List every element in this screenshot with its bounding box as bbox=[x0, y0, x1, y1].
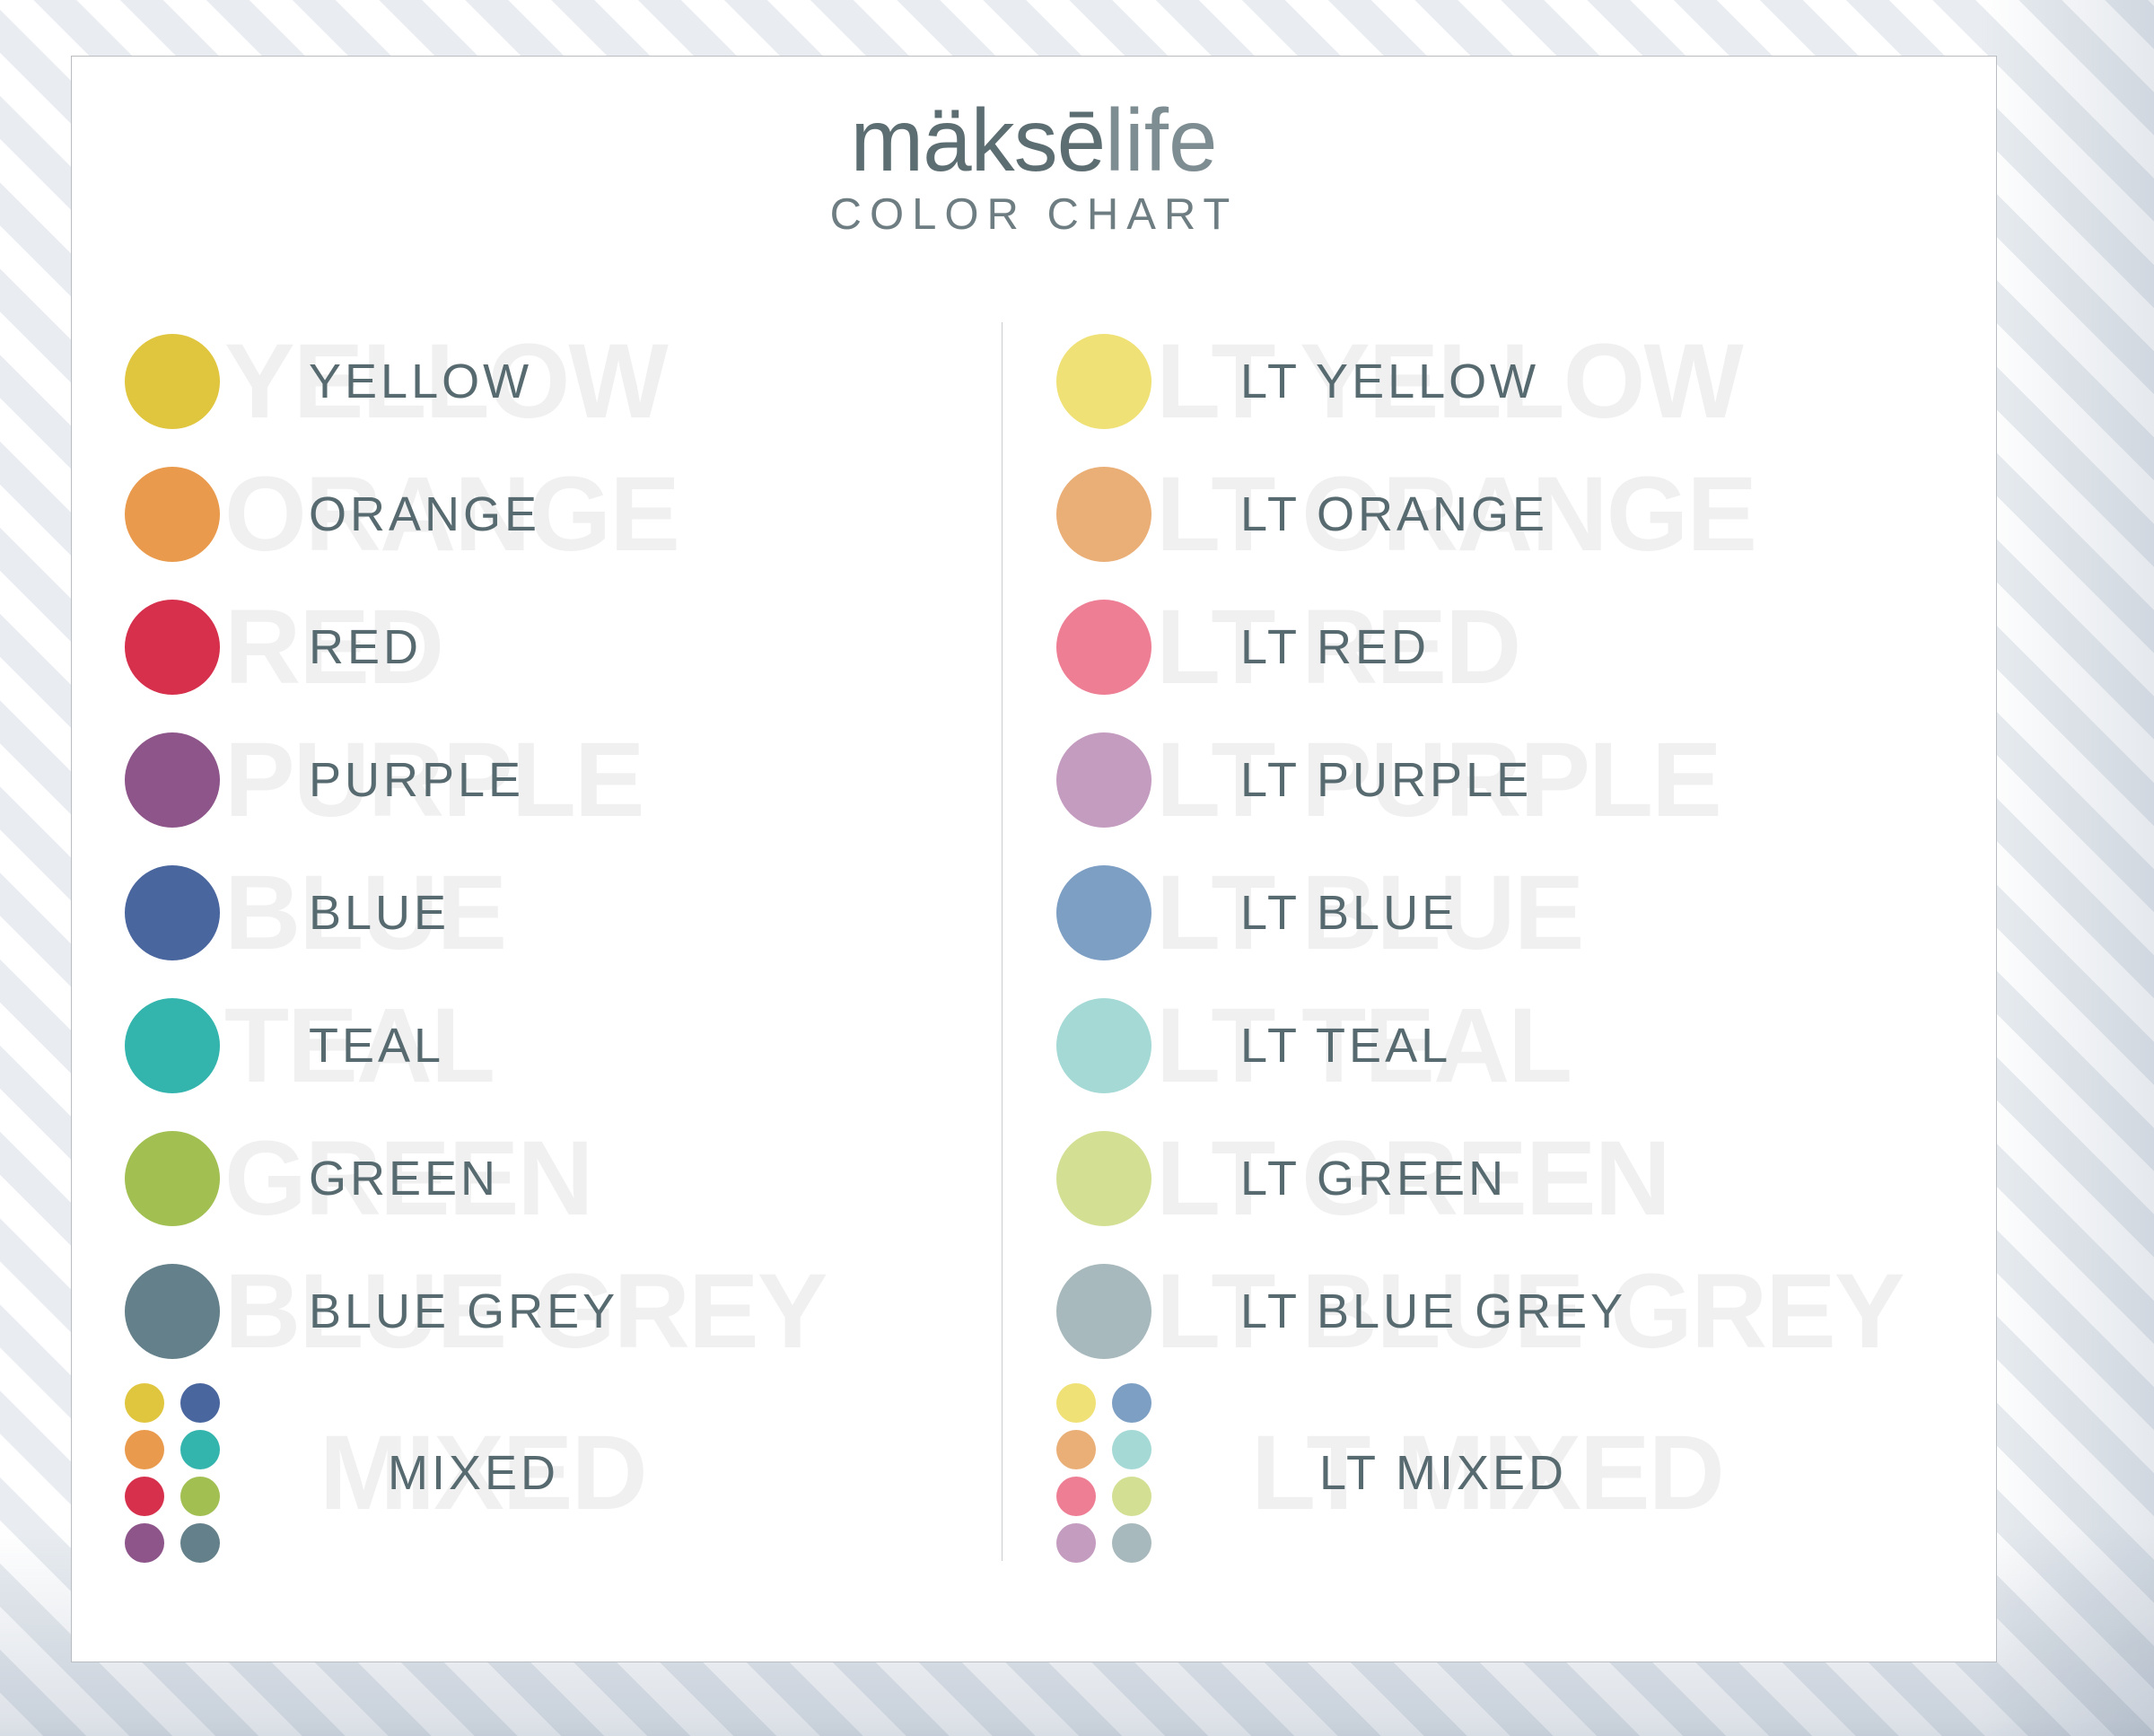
mixed-swatch-dot bbox=[1112, 1430, 1151, 1469]
label-cell: BLUEBLUE bbox=[257, 846, 1012, 979]
swatch-cell bbox=[88, 467, 257, 562]
color-row[interactable]: BLUEBLUE bbox=[88, 846, 1012, 979]
mixed-swatch-grid bbox=[1051, 1381, 1157, 1565]
color-row[interactable]: LT GREENLT GREEN bbox=[1020, 1112, 1944, 1245]
color-label: LT ORANGE bbox=[1188, 487, 1548, 542]
color-label: LT BLUE GREY bbox=[1188, 1284, 1626, 1339]
color-swatch-dot bbox=[125, 600, 220, 695]
label-cell: LT YELLOWLT YELLOW bbox=[1188, 315, 1944, 448]
color-swatch-dot bbox=[1056, 732, 1151, 828]
label-cell: ORANGEORANGE bbox=[257, 448, 1012, 581]
mixed-swatch-dot bbox=[180, 1430, 220, 1469]
color-row[interactable]: GREENGREEN bbox=[88, 1112, 1012, 1245]
color-label: ORANGE bbox=[257, 487, 540, 542]
mixed-swatch-dot bbox=[125, 1383, 164, 1423]
color-swatch-dot bbox=[1056, 600, 1151, 695]
color-swatch-dot bbox=[125, 1131, 220, 1226]
swatch-cell bbox=[1020, 732, 1188, 828]
label-cell: LT BLUE GREYLT BLUE GREY bbox=[1188, 1245, 1944, 1378]
mixed-swatch-dot bbox=[180, 1477, 220, 1516]
color-row[interactable]: YELLOWYELLOW bbox=[88, 315, 1012, 448]
label-cell: YELLOWYELLOW bbox=[257, 315, 1012, 448]
mixed-swatch-dot bbox=[125, 1430, 164, 1469]
label-cell: MIXEDMIXED bbox=[257, 1378, 1012, 1568]
color-row[interactable]: BLUE GREYBLUE GREY bbox=[88, 1245, 1012, 1378]
label-cell: LT PURPLELT PURPLE bbox=[1188, 714, 1944, 846]
color-row[interactable]: LT REDLT RED bbox=[1020, 581, 1944, 714]
label-cell: GREENGREEN bbox=[257, 1112, 1012, 1245]
label-cell: LT MIXEDLT MIXED bbox=[1188, 1378, 1944, 1568]
swatch-cell bbox=[1020, 600, 1188, 695]
color-label: LT MIXED bbox=[1188, 1445, 1567, 1501]
color-chart-card: mäksēlife COLOR CHART YELLOWYELLOWORANGE… bbox=[71, 56, 1997, 1662]
color-swatch-dot bbox=[125, 467, 220, 562]
swatch-cell bbox=[1020, 1264, 1188, 1359]
color-swatch-dot bbox=[125, 334, 220, 429]
color-row[interactable]: PURPLEPURPLE bbox=[88, 714, 1012, 846]
chart-subtitle: COLOR CHART bbox=[72, 189, 1996, 240]
label-cell: LT ORANGELT ORANGE bbox=[1188, 448, 1944, 581]
label-cell: LT TEALLT TEAL bbox=[1188, 979, 1944, 1112]
mixed-swatch-dot bbox=[125, 1477, 164, 1516]
color-label: LT BLUE bbox=[1188, 885, 1458, 941]
page-background: mäksēlife COLOR CHART YELLOWYELLOWORANGE… bbox=[0, 0, 2154, 1736]
color-row[interactable]: REDRED bbox=[88, 581, 1012, 714]
color-row[interactable]: LT TEALLT TEAL bbox=[1020, 979, 1944, 1112]
color-swatch-dot bbox=[1056, 865, 1151, 960]
color-label: BLUE GREY bbox=[257, 1284, 618, 1339]
swatch-cell bbox=[1020, 467, 1188, 562]
color-swatch-dot bbox=[1056, 467, 1151, 562]
color-label: LT YELLOW bbox=[1188, 354, 1539, 409]
label-cell: PURPLEPURPLE bbox=[257, 714, 1012, 846]
color-row[interactable]: LT PURPLELT PURPLE bbox=[1020, 714, 1944, 846]
swatch-cell bbox=[1020, 1131, 1188, 1226]
mixed-swatch-dot bbox=[1056, 1477, 1096, 1516]
mixed-swatch-dot bbox=[180, 1383, 220, 1423]
color-label: PURPLE bbox=[257, 752, 524, 808]
color-row[interactable]: ORANGEORANGE bbox=[88, 448, 1012, 581]
brand-logo-secondary: life bbox=[1105, 91, 1217, 189]
color-swatch-dot bbox=[1056, 1264, 1151, 1359]
color-label: RED bbox=[257, 619, 422, 675]
swatch-cell bbox=[88, 1131, 257, 1226]
mixed-swatch-dot bbox=[1112, 1383, 1151, 1423]
color-row[interactable]: MIXEDMIXED bbox=[88, 1378, 1012, 1568]
column-standard-colors: YELLOWYELLOWORANGEORANGEREDREDPURPLEPURP… bbox=[88, 315, 1012, 1590]
brand-logo-primary: mäksē bbox=[851, 91, 1106, 189]
column-light-colors: LT YELLOWLT YELLOWLT ORANGELT ORANGELT R… bbox=[1020, 315, 1944, 1590]
label-cell: LT BLUELT BLUE bbox=[1188, 846, 1944, 979]
color-label: YELLOW bbox=[257, 354, 532, 409]
color-row[interactable]: TEALTEAL bbox=[88, 979, 1012, 1112]
label-cell: TEALTEAL bbox=[257, 979, 1012, 1112]
mixed-swatch-dot bbox=[1056, 1523, 1096, 1563]
color-row[interactable]: LT BLUE GREYLT BLUE GREY bbox=[1020, 1245, 1944, 1378]
color-swatch-dot bbox=[1056, 1131, 1151, 1226]
color-label: GREEN bbox=[257, 1151, 499, 1206]
color-label: LT RED bbox=[1188, 619, 1430, 675]
color-label: LT TEAL bbox=[1188, 1018, 1451, 1074]
mixed-swatch-dot bbox=[1112, 1523, 1151, 1563]
mixed-swatch-dot bbox=[1056, 1383, 1096, 1423]
color-label: LT PURPLE bbox=[1188, 752, 1532, 808]
label-cell: BLUE GREYBLUE GREY bbox=[257, 1245, 1012, 1378]
mixed-swatch-dot bbox=[180, 1523, 220, 1563]
color-swatch-dot bbox=[125, 865, 220, 960]
color-label: LT GREEN bbox=[1188, 1151, 1507, 1206]
chart-header: mäksēlife COLOR CHART bbox=[72, 96, 1996, 240]
swatch-cell bbox=[88, 334, 257, 429]
color-label: TEAL bbox=[257, 1018, 444, 1074]
color-row[interactable]: LT MIXEDLT MIXED bbox=[1020, 1378, 1944, 1568]
color-swatch-dot bbox=[125, 1264, 220, 1359]
color-row[interactable]: LT ORANGELT ORANGE bbox=[1020, 448, 1944, 581]
label-cell: REDRED bbox=[257, 581, 1012, 714]
swatch-cell bbox=[1020, 998, 1188, 1093]
color-swatch-dot bbox=[125, 998, 220, 1093]
color-row[interactable]: LT BLUELT BLUE bbox=[1020, 846, 1944, 979]
swatch-cell bbox=[88, 600, 257, 695]
mixed-swatch-dot bbox=[1112, 1477, 1151, 1516]
swatch-cell bbox=[1020, 1381, 1188, 1565]
color-label: MIXED bbox=[257, 1445, 559, 1501]
color-swatch-dot bbox=[1056, 998, 1151, 1093]
swatch-cell bbox=[88, 865, 257, 960]
color-columns: YELLOWYELLOWORANGEORANGEREDREDPURPLEPURP… bbox=[72, 315, 1996, 1590]
color-row[interactable]: LT YELLOWLT YELLOW bbox=[1020, 315, 1944, 448]
label-cell: LT REDLT RED bbox=[1188, 581, 1944, 714]
mixed-swatch-dot bbox=[125, 1523, 164, 1563]
color-swatch-dot bbox=[125, 732, 220, 828]
swatch-cell bbox=[88, 1381, 257, 1565]
mixed-swatch-dot bbox=[1056, 1430, 1096, 1469]
label-cell: LT GREENLT GREEN bbox=[1188, 1112, 1944, 1245]
mixed-swatch-grid bbox=[119, 1381, 225, 1565]
brand-logo: mäksēlife bbox=[72, 96, 1996, 186]
swatch-cell bbox=[1020, 865, 1188, 960]
swatch-cell bbox=[88, 732, 257, 828]
swatch-cell bbox=[88, 1264, 257, 1359]
swatch-cell bbox=[88, 998, 257, 1093]
swatch-cell bbox=[1020, 334, 1188, 429]
color-label: BLUE bbox=[257, 885, 450, 941]
color-swatch-dot bbox=[1056, 334, 1151, 429]
